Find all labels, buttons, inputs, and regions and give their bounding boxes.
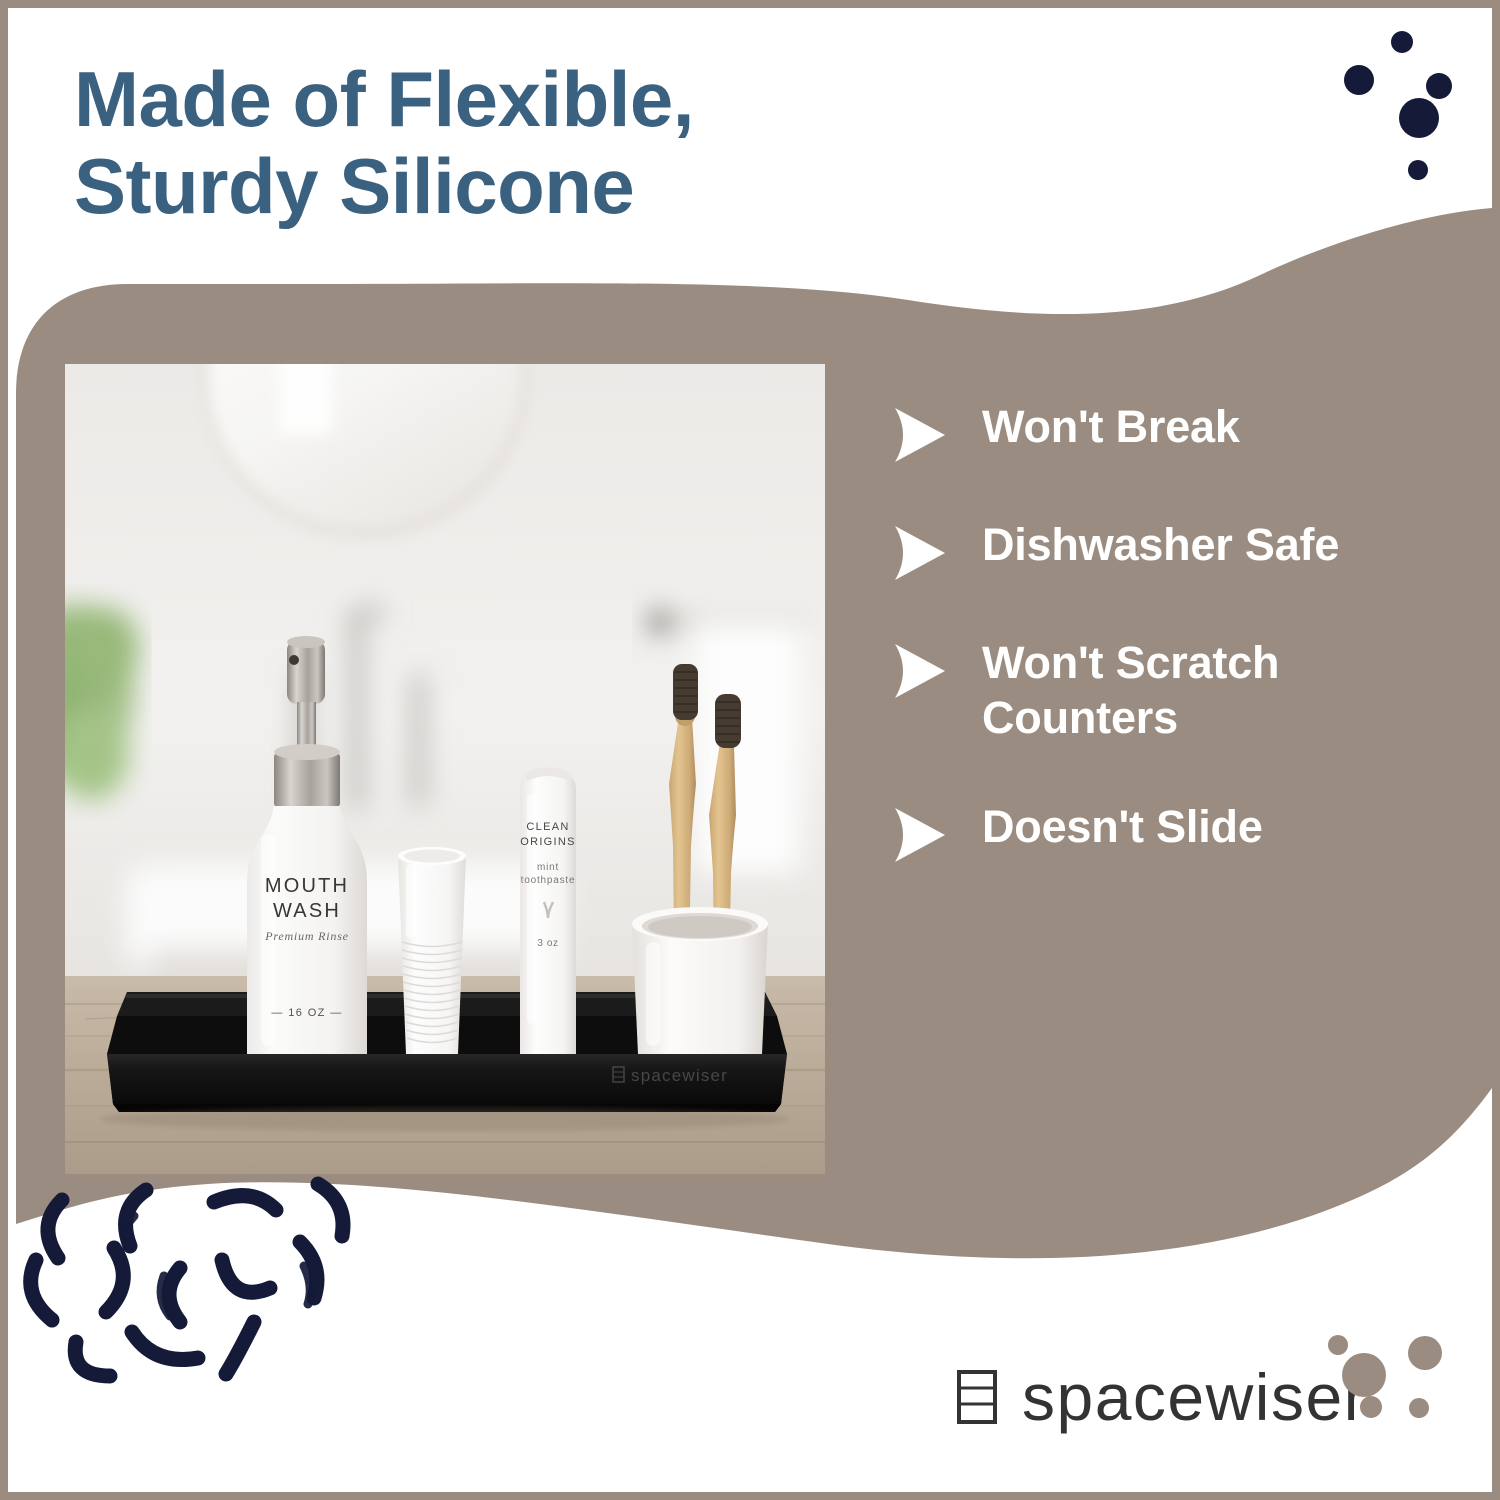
toothpaste-label-line4: toothpaste — [521, 875, 576, 886]
navy-dot — [1399, 98, 1439, 138]
taupe-dot — [1328, 1335, 1348, 1355]
product-photo-illustration: spacewiser MOU — [65, 364, 825, 1174]
toothpaste-label-line3: mint — [537, 862, 559, 873]
headline-line-2: Sturdy Silicone — [74, 143, 894, 230]
navy-dot — [1408, 160, 1428, 180]
tray-emboss-logo-front: spacewiser — [613, 1066, 728, 1085]
benefit-label: Won't Break — [982, 400, 1240, 455]
benefit-item: Doesn't Slide — [892, 800, 1412, 864]
navy-crescents-decoration — [18, 1172, 418, 1432]
navy-dot — [1426, 73, 1452, 99]
arrow-bullet-icon — [892, 642, 948, 700]
product-photo: spacewiser MOU — [65, 364, 825, 1174]
mouthwash-size: — 16 OZ — — [271, 1007, 342, 1019]
taupe-dot — [1342, 1353, 1386, 1397]
benefit-label: Dishwasher Safe — [982, 518, 1339, 573]
tray-emboss-text: spacewiser — [631, 1066, 728, 1085]
headline-line-1: Made of Flexible, — [74, 55, 694, 143]
navy-dot — [1391, 31, 1413, 53]
mouthwash-tagline: Premium Rinse — [264, 929, 349, 943]
brand-logo: spacewiser — [954, 1364, 1367, 1430]
taupe-dot — [1360, 1396, 1382, 1418]
benefit-item: Won't Break — [892, 400, 1412, 464]
arrow-bullet-icon — [892, 806, 948, 864]
infographic-canvas: Made of Flexible, Sturdy Silicone — [8, 8, 1492, 1492]
taupe-dots-decoration — [1312, 1307, 1462, 1452]
benefit-item: Dishwasher Safe — [892, 518, 1412, 582]
arrow-bullet-icon — [892, 524, 948, 582]
toothpaste-tube: CLEAN ORIGINS mint toothpaste 3 oz — [520, 768, 576, 1055]
toothpaste-label-line2: ORIGINS — [520, 836, 576, 848]
toothpaste-size: 3 oz — [537, 938, 558, 949]
taupe-dot — [1408, 1336, 1442, 1370]
navy-dots-decoration — [1332, 8, 1492, 188]
benefit-label: Doesn't Slide — [982, 800, 1263, 855]
mouthwash-label-line1: MOUTH — [265, 875, 349, 897]
benefit-item: Won't Scratch Counters — [892, 636, 1412, 746]
taupe-dot — [1409, 1398, 1429, 1418]
navy-dot — [1344, 65, 1374, 95]
benefit-label: Won't Scratch Counters — [982, 636, 1412, 746]
page-title: Made of Flexible, Sturdy Silicone — [74, 56, 894, 231]
mouthwash-label-line2: WASH — [273, 900, 341, 922]
toothpaste-label-line1: CLEAN — [526, 821, 569, 833]
stacked-paper-cups — [398, 847, 466, 1054]
benefits-list: Won't Break Dishwasher Safe Won't Scratc… — [892, 400, 1412, 864]
shelf-logo-icon — [954, 1368, 1000, 1426]
arrow-bullet-icon — [892, 406, 948, 464]
